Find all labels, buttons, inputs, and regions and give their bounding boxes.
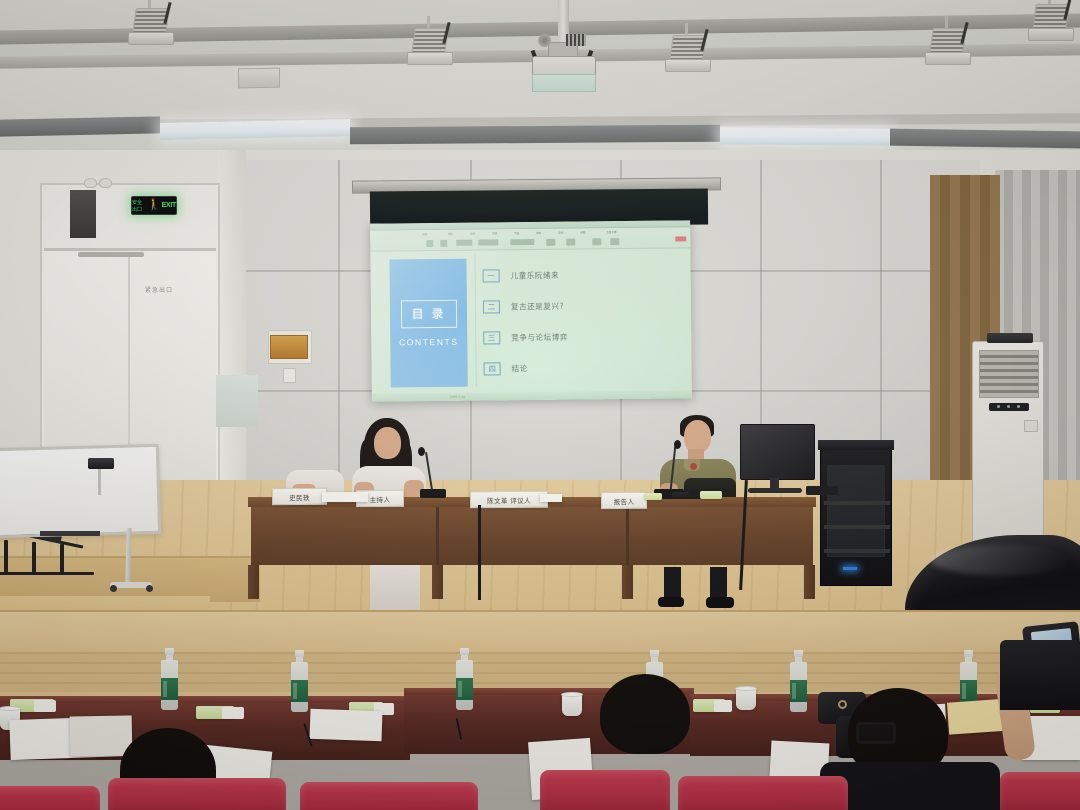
whiteboard-marker-tray <box>40 531 100 536</box>
toc-label: 复古还是复兴? <box>511 300 564 312</box>
nameplate: 报告人 <box>601 492 647 509</box>
water-bottle <box>456 648 473 710</box>
ribbon-tool-icon[interactable] <box>566 239 575 246</box>
ceiling-projector-icon <box>528 30 600 92</box>
slide-vertical-rule <box>474 255 476 387</box>
close-icon[interactable] <box>675 236 686 241</box>
toc-number: 三 <box>483 331 500 344</box>
toc-item: 三 竞争与论坛博弈 <box>483 323 673 351</box>
toc-item: 四 结论 <box>483 354 673 382</box>
light-fixture-housing <box>890 129 1080 149</box>
face <box>374 427 401 459</box>
toc-label: 结论 <box>512 363 528 374</box>
slide-toc-list: 一 儿童乐阮绪来 二 复古还是复兴? 三 竞争与论坛博弈 四 结论 <box>482 261 673 387</box>
toc-number: 二 <box>483 300 500 313</box>
rack-shelf <box>824 525 890 529</box>
microphone-head <box>674 440 681 449</box>
ac-air-grill <box>979 350 1039 398</box>
rack-shelf <box>824 549 890 553</box>
rack-glass-door[interactable] <box>827 465 885 557</box>
fluorescent-tube <box>720 127 890 145</box>
shoe <box>706 597 734 608</box>
toc-number: 一 <box>483 269 500 282</box>
nameplate-label: 陈文革 评议人 <box>487 494 531 504</box>
rack-power-led <box>843 567 857 570</box>
audience-chair[interactable] <box>540 770 670 810</box>
wall-socket[interactable] <box>283 368 296 383</box>
ac-top-unit <box>987 333 1033 343</box>
ribbon-tool-icon[interactable] <box>456 240 472 246</box>
nameplate: 史民轶 <box>272 488 327 505</box>
bag-clasp-icon <box>838 700 847 709</box>
ribbon-tab-8[interactable]: 会员专享 <box>606 230 616 234</box>
ceiling-fixture-box <box>238 68 280 89</box>
ac-sticker <box>1024 420 1038 432</box>
shoe <box>658 597 684 607</box>
toc-label: 儿童乐阮绪来 <box>511 269 560 281</box>
ribbon-tool-icon[interactable] <box>510 239 534 245</box>
document-on-table <box>540 494 562 502</box>
projection-screen: 开始 插入 设计 切换 动画 放映 审阅 视图 会员专享 <box>370 220 692 401</box>
eyeglasses-icon <box>856 722 896 744</box>
ribbon-tab-4[interactable]: 动画 <box>514 231 519 235</box>
nameplate: 陈文革 评议人 <box>470 491 548 509</box>
projected-slide: 开始 插入 设计 切换 动画 放映 审阅 视图 会员专享 <box>370 220 692 401</box>
ribbon-tool-icon[interactable] <box>478 239 498 245</box>
toc-number: 四 <box>484 362 501 375</box>
document-on-table <box>322 492 368 502</box>
piano-reflection <box>930 545 1070 575</box>
nameplate-label: 史民轶 <box>289 491 310 501</box>
ribbon-tab-0[interactable]: 开始 <box>422 232 427 236</box>
camera-tripod <box>98 469 101 495</box>
ribbon-tab-7[interactable]: 视图 <box>580 230 585 234</box>
presentation-ribbon: 开始 插入 设计 切换 动画 放映 审阅 视图 会员专享 <box>370 227 690 251</box>
ceiling-spotlight-icon <box>407 28 453 72</box>
audience-chair[interactable] <box>678 776 848 810</box>
ceiling-spotlight-icon <box>1028 4 1074 48</box>
paper-cup <box>736 688 756 710</box>
exit-sign-cn-label: 安全出口 <box>132 199 146 213</box>
av-equipment-rack[interactable] <box>820 448 892 586</box>
ribbon-tool-icon[interactable] <box>440 240 447 247</box>
ribbon-tab-2[interactable]: 设计 <box>470 232 475 236</box>
rack-top-panel <box>818 440 894 450</box>
whiteboard-caster <box>110 585 117 592</box>
ribbon-tool-icon[interactable] <box>426 240 433 247</box>
door-push-bar[interactable] <box>78 252 144 257</box>
paper-cup <box>562 694 582 716</box>
toc-item: 二 复古还是复兴? <box>483 292 673 320</box>
head-table <box>248 497 816 597</box>
head-table-modesty-panel <box>251 507 813 565</box>
tissue-pack <box>644 493 662 500</box>
rack-shelf <box>824 501 890 505</box>
whiteboard-caster <box>146 585 153 592</box>
slide-counter: 幻灯片 2 / 16 <box>450 395 465 399</box>
microphone-head <box>418 447 425 456</box>
av-controller[interactable] <box>806 486 838 495</box>
ribbon-tab-1[interactable]: 插入 <box>448 232 453 236</box>
slide-contents-panel: 目 录 CONTENTS <box>389 259 467 388</box>
lecture-hall-photo: 紧急出口 安全出口 🚶 EXIT 开始 插入 设计 切换 动画 放映 审阅 视图… <box>0 0 1080 810</box>
audience-chair[interactable] <box>1000 772 1080 810</box>
contents-cn-title: 目 录 <box>412 305 446 322</box>
contents-en-title: CONTENTS <box>399 336 459 347</box>
desktop-monitor[interactable] <box>740 424 815 480</box>
exit-sign-en-label: EXIT <box>162 202 176 209</box>
door-label: 紧急出口 <box>145 285 173 294</box>
water-bottle <box>291 650 308 712</box>
wall-vent-grill <box>270 335 308 359</box>
water-bottle <box>161 648 178 710</box>
running-man-icon: 🚶 <box>147 200 161 211</box>
ceiling-spotlight-icon <box>665 35 711 79</box>
ribbon-tool-icon[interactable] <box>592 238 601 245</box>
mouse[interactable] <box>688 489 699 496</box>
door-center-split <box>128 252 130 476</box>
toc-label: 竞争与论坛博弈 <box>511 331 568 343</box>
ribbon-tool-icon[interactable] <box>546 239 555 246</box>
contents-cn-frame: 目 录 <box>400 299 456 328</box>
toc-item: 一 儿童乐阮绪来 <box>482 261 672 289</box>
light-fixture-housing <box>0 116 160 136</box>
nameplate-label: 报告人 <box>614 495 635 505</box>
audience-chair[interactable] <box>300 782 478 810</box>
ribbon-tab-6[interactable]: 审阅 <box>558 231 563 235</box>
exit-sign: 安全出口 🚶 EXIT <box>131 196 177 215</box>
ribbon-tab-5[interactable]: 放映 <box>536 231 541 235</box>
tissue-pack-white <box>714 700 732 712</box>
dark-chair-back <box>1000 640 1080 710</box>
camera-icon <box>88 458 114 469</box>
tissue-pack-white <box>34 700 56 712</box>
wall-speaker <box>70 190 96 238</box>
document-paper <box>309 709 382 741</box>
monitor-stand-base <box>748 488 802 493</box>
tissue-pack-white <box>222 707 244 719</box>
audience-person-head <box>600 674 690 754</box>
water-bottle <box>790 650 807 712</box>
open-document-page <box>70 715 133 756</box>
audience-chair[interactable] <box>108 778 286 810</box>
tissue-pack <box>700 491 722 499</box>
emergency-light-icon <box>84 178 97 188</box>
ribbon-tool-icon[interactable] <box>610 238 619 245</box>
mobile-whiteboard[interactable] <box>0 444 161 538</box>
lapel-pin-icon <box>690 463 697 470</box>
audience-chair[interactable] <box>0 786 100 810</box>
light-fixture-housing <box>350 125 720 145</box>
microphone-base[interactable] <box>420 489 446 498</box>
nameplate-label: 主持人 <box>370 493 391 503</box>
mic-cable <box>478 505 481 600</box>
ceiling-spotlight-icon <box>925 28 971 72</box>
ceiling-spotlight-icon <box>128 8 174 52</box>
ribbon-tab-3[interactable]: 切换 <box>492 231 497 235</box>
emergency-light-icon <box>99 178 112 188</box>
